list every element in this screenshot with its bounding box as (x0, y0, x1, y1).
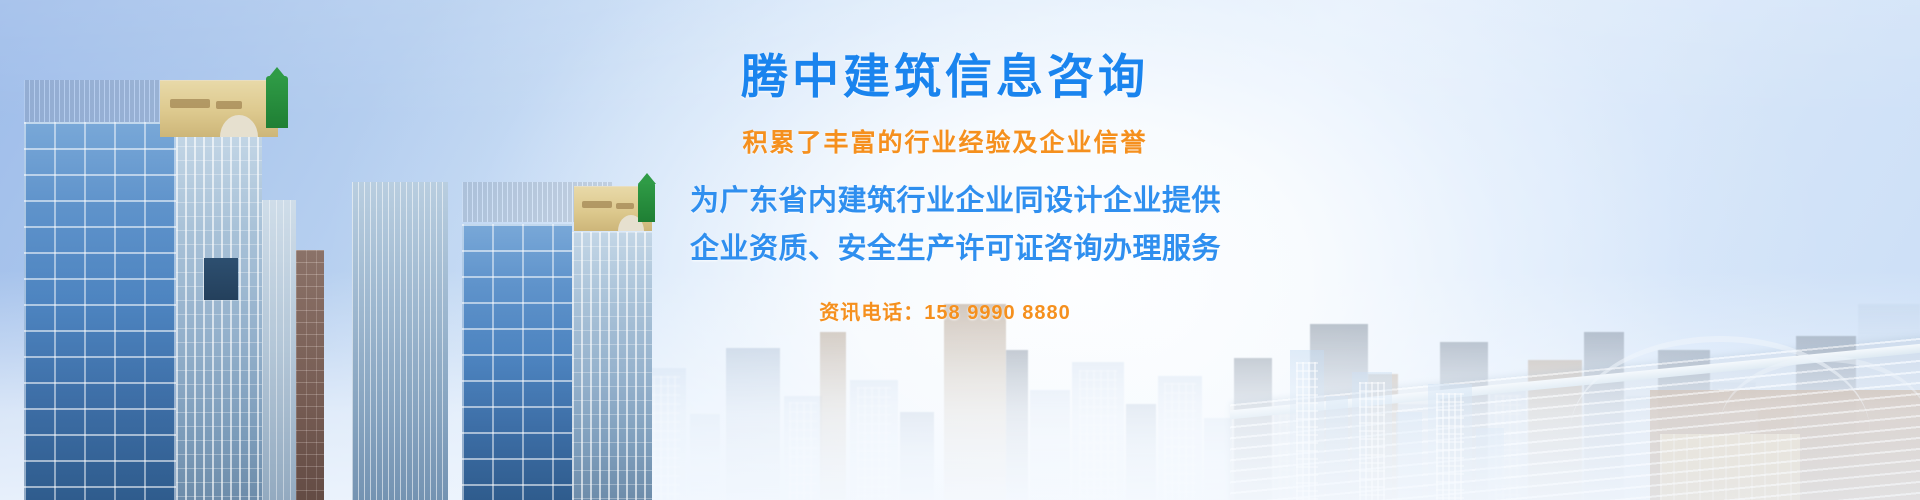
terminal-arch (1570, 336, 1870, 432)
skyline-building (1158, 376, 1202, 500)
terminal-glazing (1660, 434, 1800, 500)
billboard-dome (220, 115, 258, 137)
tower-facade-glass (462, 224, 572, 500)
billboard-green-sign (266, 76, 288, 128)
skyline-building (1584, 332, 1624, 500)
skyline-building (850, 380, 898, 500)
skyline-building (690, 414, 720, 500)
skyline-building (1006, 350, 1028, 500)
tower-facade-side (176, 132, 262, 500)
contact-phone[interactable]: 资讯电话：158 9990 8880 (690, 296, 1200, 325)
promo-banner: 腾中建筑信息咨询 积累了丰富的行业经验及企业信誉 为广东省内建筑行业企业同设计企… (0, 0, 1920, 500)
ghost-building (1290, 350, 1324, 500)
ghost-building (1428, 384, 1472, 500)
banner-subtitle: 积累了丰富的行业经验及企业信誉 (690, 129, 1200, 158)
terminal-wall (1650, 390, 1920, 500)
skyline-building (900, 412, 934, 500)
skyline-building (1626, 396, 1656, 500)
foreground-tower-main (10, 80, 310, 500)
skyline-tower-tall (944, 304, 1006, 500)
skyline-building (820, 332, 846, 500)
skyline-building (1796, 336, 1856, 500)
skyline-building (1528, 360, 1582, 500)
skyline-building (784, 396, 822, 500)
tower-window-band (204, 258, 238, 300)
page-title: 腾中建筑信息咨询 (690, 52, 1200, 103)
billboard-green-sign (638, 182, 655, 222)
tower-facade-glass (24, 122, 176, 500)
foreground-tower-secondary (352, 170, 652, 500)
ghost-building (1352, 372, 1392, 500)
tower-facade-grey (262, 200, 296, 500)
skyline-building (1712, 382, 1756, 500)
banner-body-line-1: 为广东省内建筑行业企业同设计企业提供 (690, 180, 1200, 222)
skyline-building (1204, 418, 1232, 500)
ghost-building (1396, 412, 1422, 500)
skyline-building (1030, 390, 1070, 500)
skyline-building (1758, 408, 1794, 500)
skyline-building (726, 348, 780, 500)
skyline-building (1858, 304, 1920, 500)
billboard-mark (616, 203, 634, 209)
ghost-building (1326, 396, 1348, 500)
skyline-building (1126, 404, 1156, 500)
tower-facade-brick (296, 250, 324, 500)
billboard-mark (170, 99, 210, 108)
skyline-building (1072, 362, 1124, 500)
skyline-building (1658, 350, 1710, 500)
billboard-mark (216, 101, 242, 109)
billboard-mark (582, 201, 612, 208)
tower-facade-slim (352, 182, 448, 500)
terminal-arch (1720, 356, 1920, 426)
rooftop-billboard (160, 80, 278, 137)
skyline-building (1234, 358, 1272, 500)
tower-facade-side (572, 232, 652, 500)
banner-body-line-2: 企业资质、安全生产许可证咨询办理服务 (690, 228, 1200, 270)
ghost-building (1476, 428, 1504, 500)
banner-copy: 腾中建筑信息咨询 积累了丰富的行业经验及企业信誉 为广东省内建筑行业企业同设计企… (690, 52, 1200, 325)
